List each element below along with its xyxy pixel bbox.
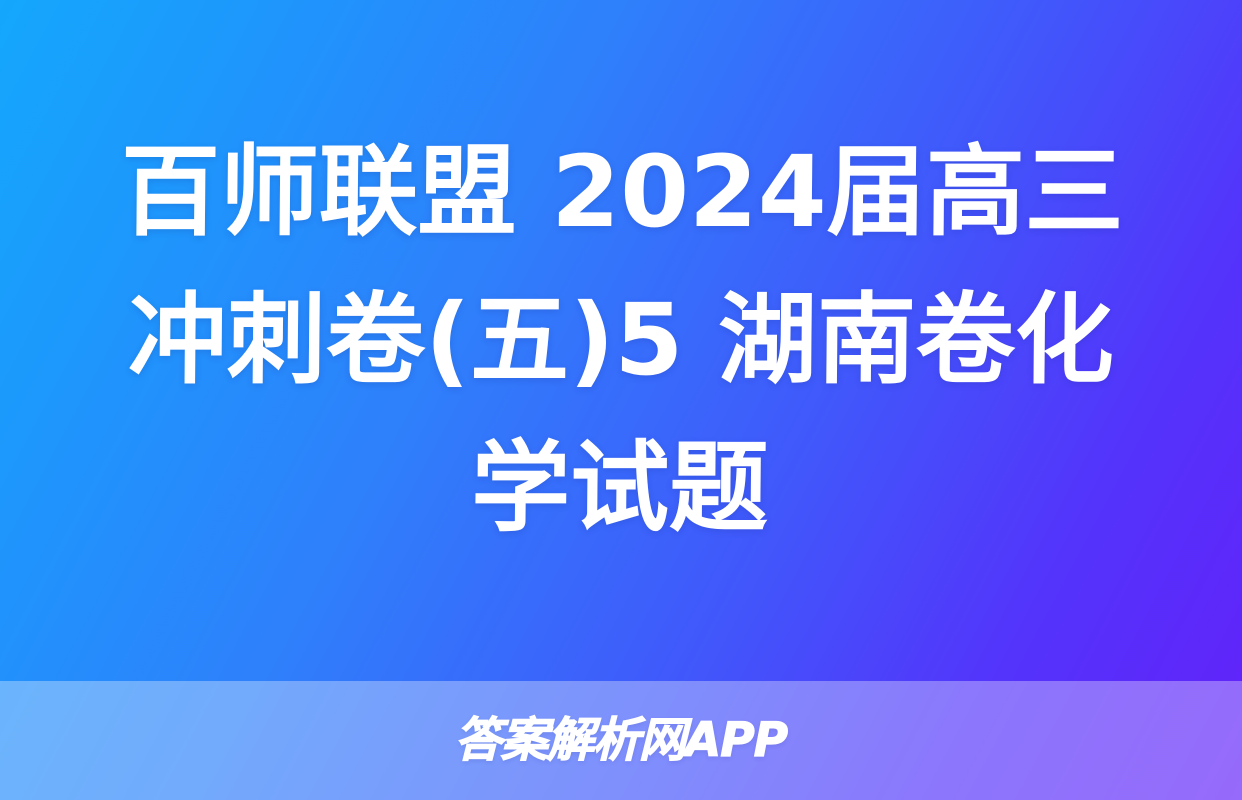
title-block: 百师联盟 2024届高三冲刺卷(五)5 湖南卷化学试题 [0, 0, 1242, 681]
poster-canvas: 百师联盟 2024届高三冲刺卷(五)5 湖南卷化学试题 答案解析网APP [0, 0, 1242, 800]
brand-watermark: 答案解析网APP [455, 717, 787, 764]
page-title: 百师联盟 2024届高三冲刺卷(五)5 湖南卷化学试题 [79, 119, 1163, 563]
footer-brand-band: 答案解析网APP [0, 681, 1242, 800]
